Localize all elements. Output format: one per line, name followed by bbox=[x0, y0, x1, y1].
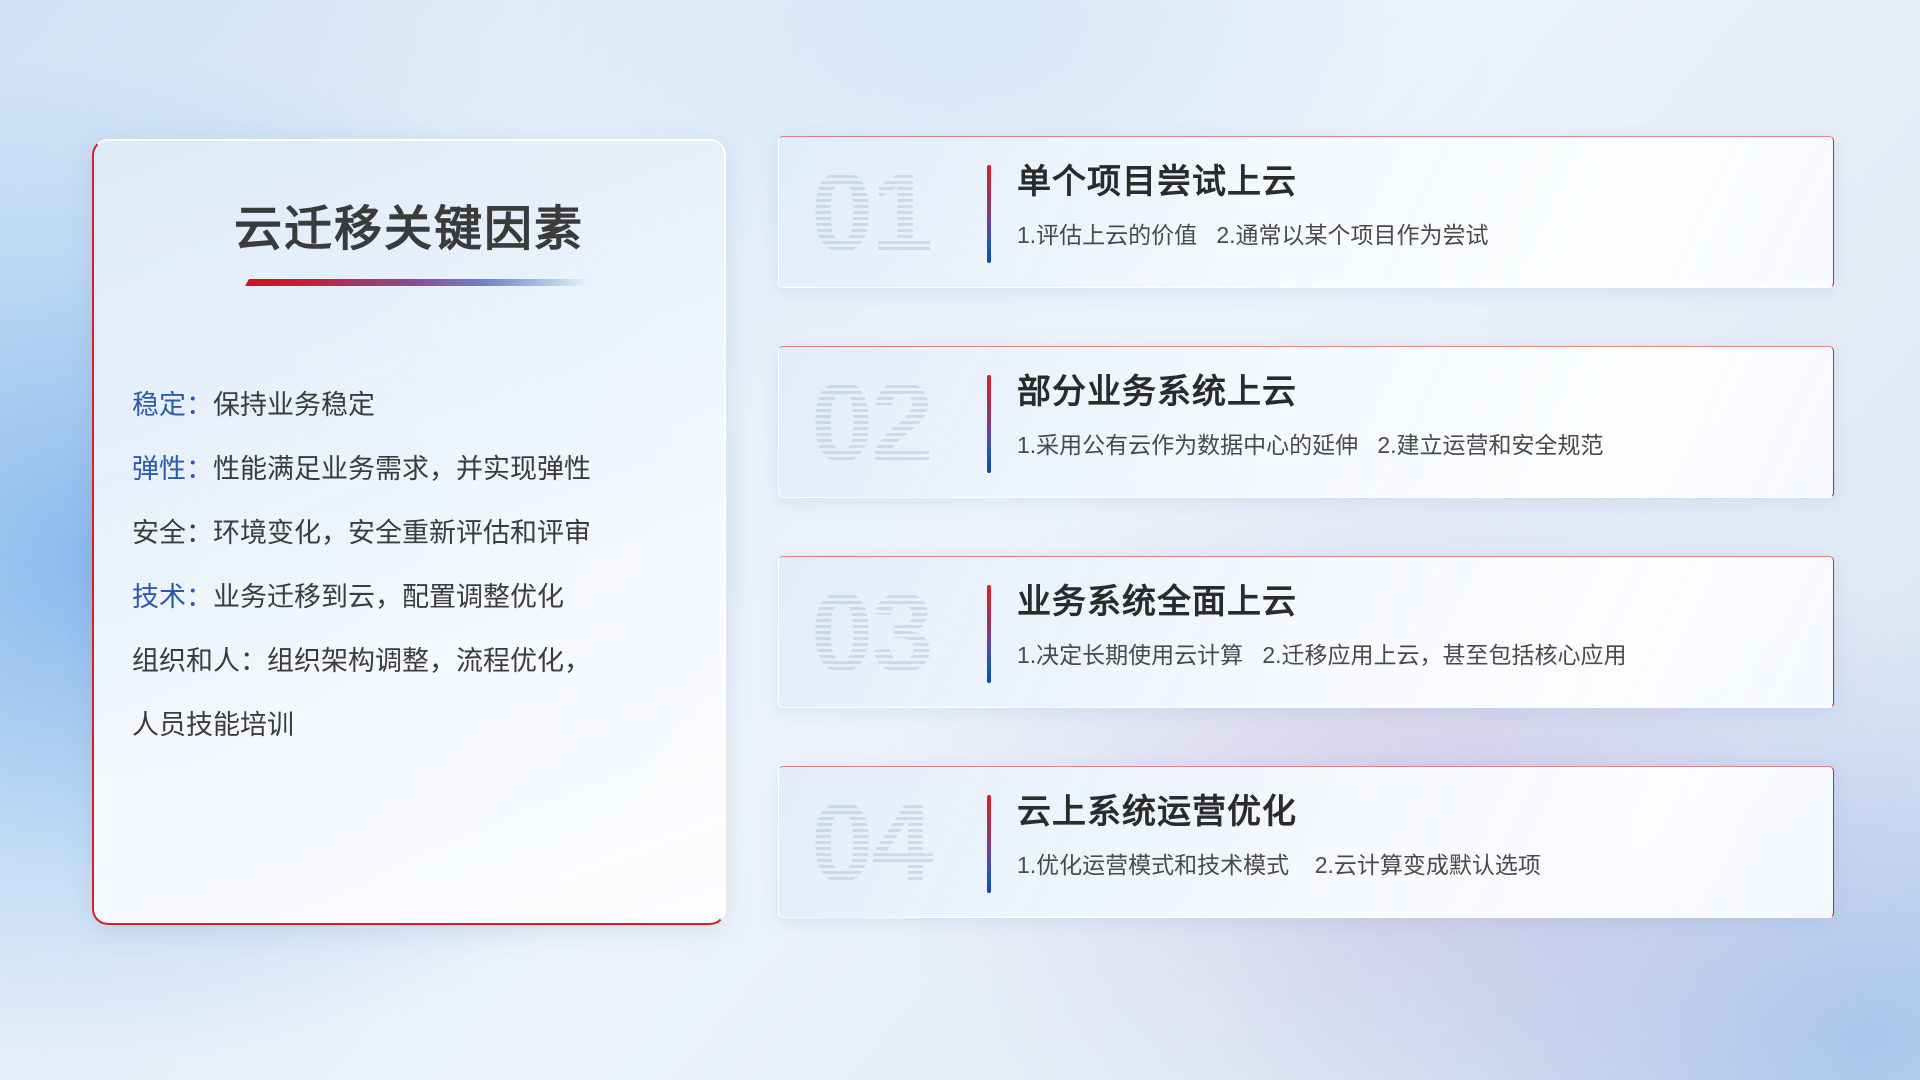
migration-steps-list: 01 单个项目尝试上云 1.评估上云的价值 2.通常以某个项目作为尝试 02 部… bbox=[778, 136, 1834, 976]
list-item: 稳定：保持业务稳定 bbox=[132, 373, 698, 437]
step-number: 04 bbox=[811, 781, 997, 905]
page-title: 云迁移关键因素 bbox=[94, 189, 724, 259]
factor-text: 人员技能培训 bbox=[132, 710, 294, 740]
list-item: 安全：环境变化，安全重新评估和评审 bbox=[132, 501, 698, 565]
list-item: 技术：业务迁移到云，配置调整优化 bbox=[132, 565, 698, 629]
step-divider-accent bbox=[987, 795, 991, 893]
step-number: 02 bbox=[811, 361, 997, 485]
factor-label: 组织和人： bbox=[132, 646, 267, 676]
factor-label: 安全： bbox=[132, 518, 213, 548]
step-divider-accent bbox=[987, 165, 991, 263]
factor-text: 业务迁移到云，配置调整优化 bbox=[213, 582, 564, 612]
step-number: 03 bbox=[811, 571, 997, 695]
step-title: 部分业务系统上云 bbox=[1017, 369, 1809, 415]
key-factors-list: 稳定：保持业务稳定 弹性：性能满足业务需求，并实现弹性 安全：环境变化，安全重新… bbox=[132, 373, 698, 757]
step-card-03[interactable]: 03 业务系统全面上云 1.决定长期使用云计算 2.迁移应用上云，甚至包括核心应… bbox=[778, 556, 1834, 708]
slide-canvas: 云迁移关键因素 稳定：保持业务稳定 弹性：性能满足业务需求，并实现弹性 安全：环… bbox=[0, 0, 1920, 1080]
list-item: 人员技能培训 bbox=[132, 693, 698, 757]
step-body: 部分业务系统上云 1.采用公有云作为数据中心的延伸 2.建立运营和安全规范 bbox=[1017, 369, 1809, 461]
step-card-02[interactable]: 02 部分业务系统上云 1.采用公有云作为数据中心的延伸 2.建立运营和安全规范 bbox=[778, 346, 1834, 498]
factor-text: 环境变化，安全重新评估和评审 bbox=[213, 518, 591, 548]
factor-text: 性能满足业务需求，并实现弹性 bbox=[213, 454, 591, 484]
step-title: 业务系统全面上云 bbox=[1017, 579, 1809, 625]
factor-label: 技术： bbox=[132, 582, 213, 612]
step-card-04[interactable]: 04 云上系统运营优化 1.优化运营模式和技术模式 2.云计算变成默认选项 bbox=[778, 766, 1834, 918]
factor-text: 保持业务稳定 bbox=[213, 390, 375, 420]
title-underline-accent bbox=[245, 279, 589, 286]
step-description: 1.评估上云的价值 2.通常以某个项目作为尝试 bbox=[1017, 219, 1809, 251]
step-card-01[interactable]: 01 单个项目尝试上云 1.评估上云的价值 2.通常以某个项目作为尝试 bbox=[778, 136, 1834, 288]
list-item: 组织和人：组织架构调整，流程优化， bbox=[132, 629, 698, 693]
list-item: 弹性：性能满足业务需求，并实现弹性 bbox=[132, 437, 698, 501]
step-body: 云上系统运营优化 1.优化运营模式和技术模式 2.云计算变成默认选项 bbox=[1017, 789, 1809, 881]
step-number: 01 bbox=[811, 151, 997, 275]
step-divider-accent bbox=[987, 375, 991, 473]
factor-label: 稳定： bbox=[132, 390, 213, 420]
step-title: 单个项目尝试上云 bbox=[1017, 159, 1809, 205]
step-body: 业务系统全面上云 1.决定长期使用云计算 2.迁移应用上云，甚至包括核心应用 bbox=[1017, 579, 1809, 671]
factor-label: 弹性： bbox=[132, 454, 213, 484]
step-description: 1.采用公有云作为数据中心的延伸 2.建立运营和安全规范 bbox=[1017, 429, 1809, 461]
factor-text: 组织架构调整，流程优化， bbox=[267, 646, 591, 676]
step-title: 云上系统运营优化 bbox=[1017, 789, 1809, 835]
step-divider-accent bbox=[987, 585, 991, 683]
key-factors-card: 云迁移关键因素 稳定：保持业务稳定 弹性：性能满足业务需求，并实现弹性 安全：环… bbox=[92, 139, 726, 925]
step-body: 单个项目尝试上云 1.评估上云的价值 2.通常以某个项目作为尝试 bbox=[1017, 159, 1809, 251]
step-description: 1.决定长期使用云计算 2.迁移应用上云，甚至包括核心应用 bbox=[1017, 639, 1809, 671]
step-description: 1.优化运营模式和技术模式 2.云计算变成默认选项 bbox=[1017, 849, 1809, 881]
